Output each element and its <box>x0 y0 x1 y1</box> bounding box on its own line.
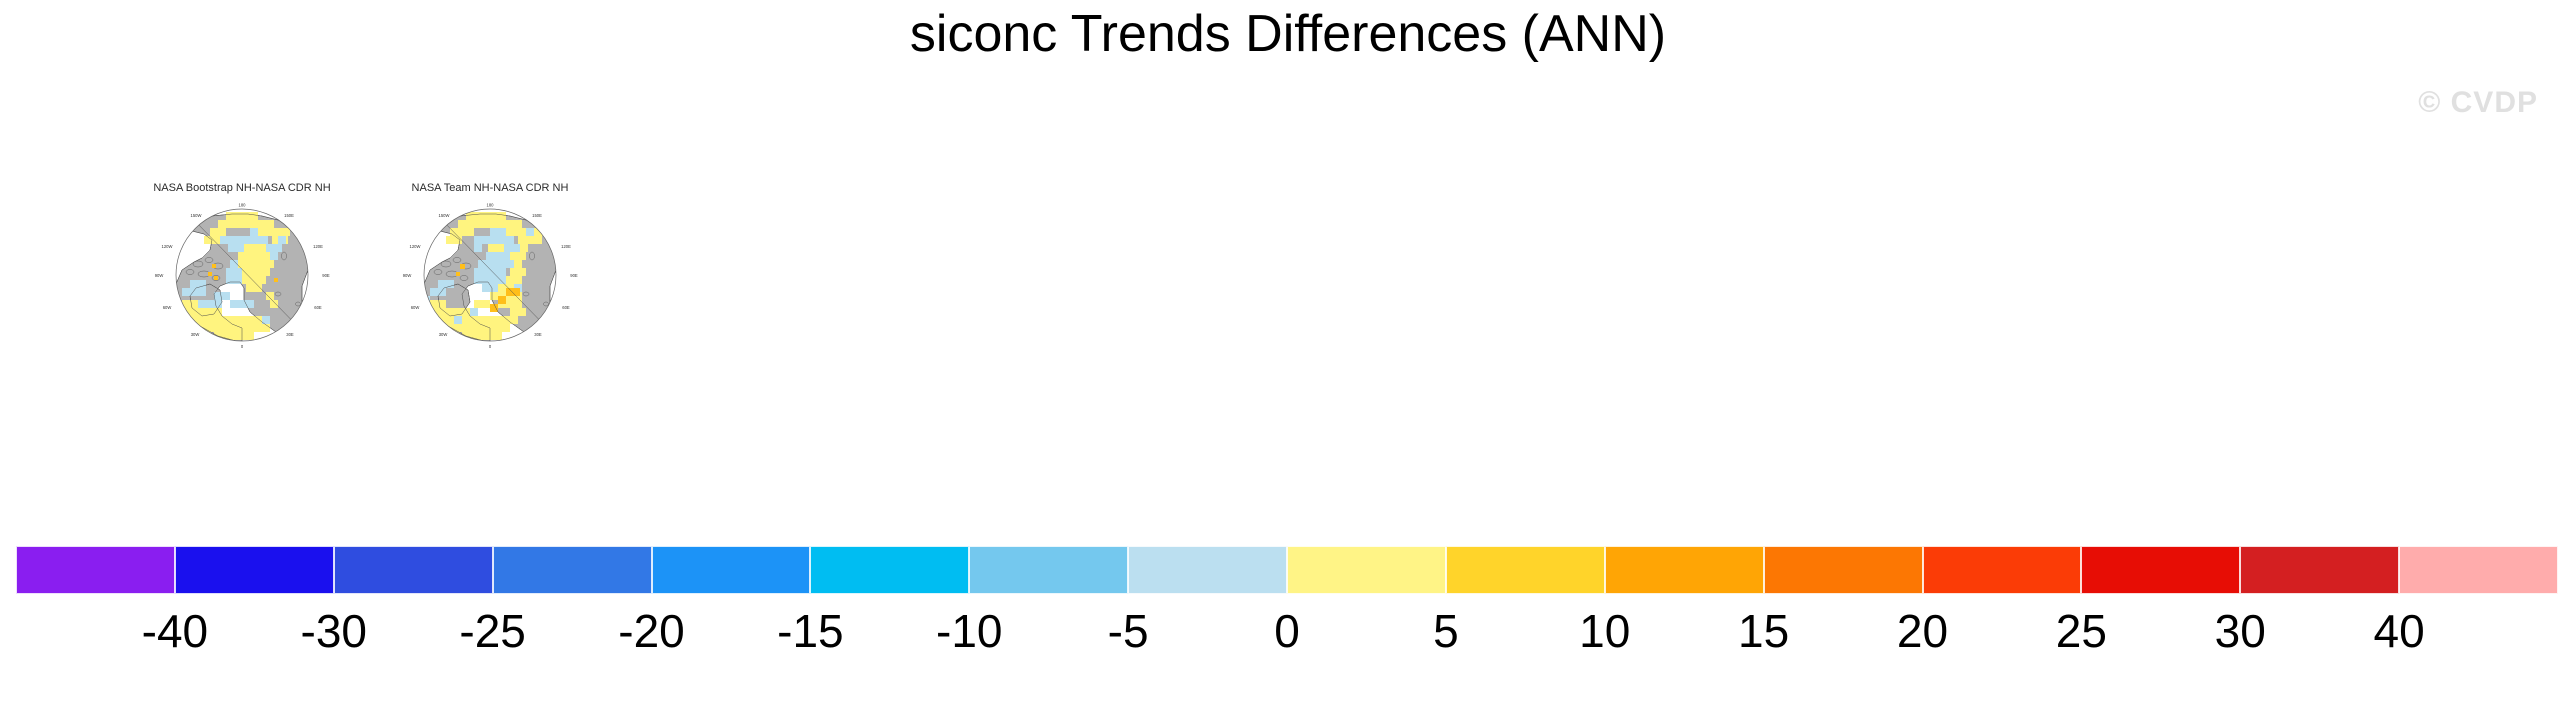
colorbar-tick--15: -15 <box>777 600 843 662</box>
colorbar-swatch-15 <box>2399 546 2558 594</box>
colorbar-swatch-0 <box>16 546 175 594</box>
svg-text:30W: 30W <box>191 332 200 337</box>
page-title: siconc Trends Differences (ANN) <box>0 8 2576 60</box>
map-data-team <box>422 212 556 341</box>
colorbar-swatch-12 <box>1923 546 2082 594</box>
colorbar-swatch-2 <box>334 546 493 594</box>
colorbar-tick-30: 30 <box>2215 600 2266 662</box>
colorbar-tick-5: 5 <box>1433 600 1459 662</box>
svg-text:90E: 90E <box>322 273 330 278</box>
colorbar-swatch-5 <box>810 546 969 594</box>
colorbar-tick-labels: -40-30-25-20-15-10-505101520253040 <box>16 600 2558 662</box>
svg-text:30E: 30E <box>286 332 294 337</box>
svg-text:150E: 150E <box>284 213 294 218</box>
map-panel-team-title: NASA Team NH-NASA CDR NH <box>400 182 580 194</box>
svg-text:0: 0 <box>241 344 244 349</box>
svg-text:150E: 150E <box>532 213 542 218</box>
colorbar-swatch-4 <box>652 546 811 594</box>
colorbar <box>16 546 2558 594</box>
colorbar-swatch-11 <box>1764 546 1923 594</box>
colorbar-swatch-13 <box>2081 546 2240 594</box>
svg-text:180: 180 <box>487 203 495 208</box>
colorbar-tick--5: -5 <box>1108 600 1149 662</box>
svg-text:30E: 30E <box>534 332 542 337</box>
colorbar-swatch-7 <box>1128 546 1287 594</box>
svg-text:60W: 60W <box>163 305 172 310</box>
svg-text:150W: 150W <box>191 213 202 218</box>
colorbar-swatch-1 <box>175 546 334 594</box>
colorbar-tick-10: 10 <box>1579 600 1630 662</box>
svg-text:90E: 90E <box>570 273 578 278</box>
map-team-canvas: 180 150E 120E 90E 60E 30E 0 30W 60W 90W … <box>400 200 580 350</box>
map-panel-team: NASA Team NH-NASA CDR NH 180 150E 120E 9… <box>400 182 580 362</box>
colorbar-swatch-6 <box>969 546 1128 594</box>
svg-text:60E: 60E <box>314 305 322 310</box>
svg-text:120W: 120W <box>410 244 421 249</box>
map-panel-bootstrap: NASA Bootstrap NH-NASA CDR NH 180 150E 1… <box>152 182 332 362</box>
colorbar-tick-0: 0 <box>1274 600 1300 662</box>
colorbar-swatch-14 <box>2240 546 2399 594</box>
map-data-bootstrap <box>174 212 308 341</box>
cvdp-watermark: © CVDP <box>2418 86 2538 120</box>
colorbar-tick-15: 15 <box>1738 600 1789 662</box>
svg-text:0: 0 <box>489 344 492 349</box>
colorbar-tick--25: -25 <box>459 600 525 662</box>
colorbar-swatch-3 <box>493 546 652 594</box>
svg-text:60E: 60E <box>562 305 570 310</box>
colorbar-tick--40: -40 <box>142 600 208 662</box>
polar-map-bootstrap: 180 150E 120E 90E 60E 30E 0 30W 60W 90W … <box>152 200 332 350</box>
map-panel-bootstrap-title: NASA Bootstrap NH-NASA CDR NH <box>152 182 332 194</box>
svg-text:120E: 120E <box>561 244 571 249</box>
colorbar-tick--30: -30 <box>301 600 367 662</box>
svg-text:90W: 90W <box>403 273 412 278</box>
colorbar-tick-40: 40 <box>2374 600 2425 662</box>
colorbar-swatch-8 <box>1287 546 1446 594</box>
svg-text:30W: 30W <box>439 332 448 337</box>
colorbar-tick--20: -20 <box>618 600 684 662</box>
svg-text:180: 180 <box>239 203 247 208</box>
polar-map-team: 180 150E 120E 90E 60E 30E 0 30W 60W 90W … <box>400 200 580 350</box>
map-bootstrap-canvas: 180 150E 120E 90E 60E 30E 0 30W 60W 90W … <box>152 200 332 350</box>
svg-text:120E: 120E <box>313 244 323 249</box>
svg-text:60W: 60W <box>411 305 420 310</box>
colorbar-tick-25: 25 <box>2056 600 2107 662</box>
svg-text:150W: 150W <box>439 213 450 218</box>
colorbar-tick-20: 20 <box>1897 600 1948 662</box>
svg-text:90W: 90W <box>155 273 164 278</box>
svg-text:120W: 120W <box>162 244 173 249</box>
colorbar-swatch-9 <box>1446 546 1605 594</box>
colorbar-swatch-10 <box>1605 546 1764 594</box>
colorbar-tick--10: -10 <box>936 600 1002 662</box>
